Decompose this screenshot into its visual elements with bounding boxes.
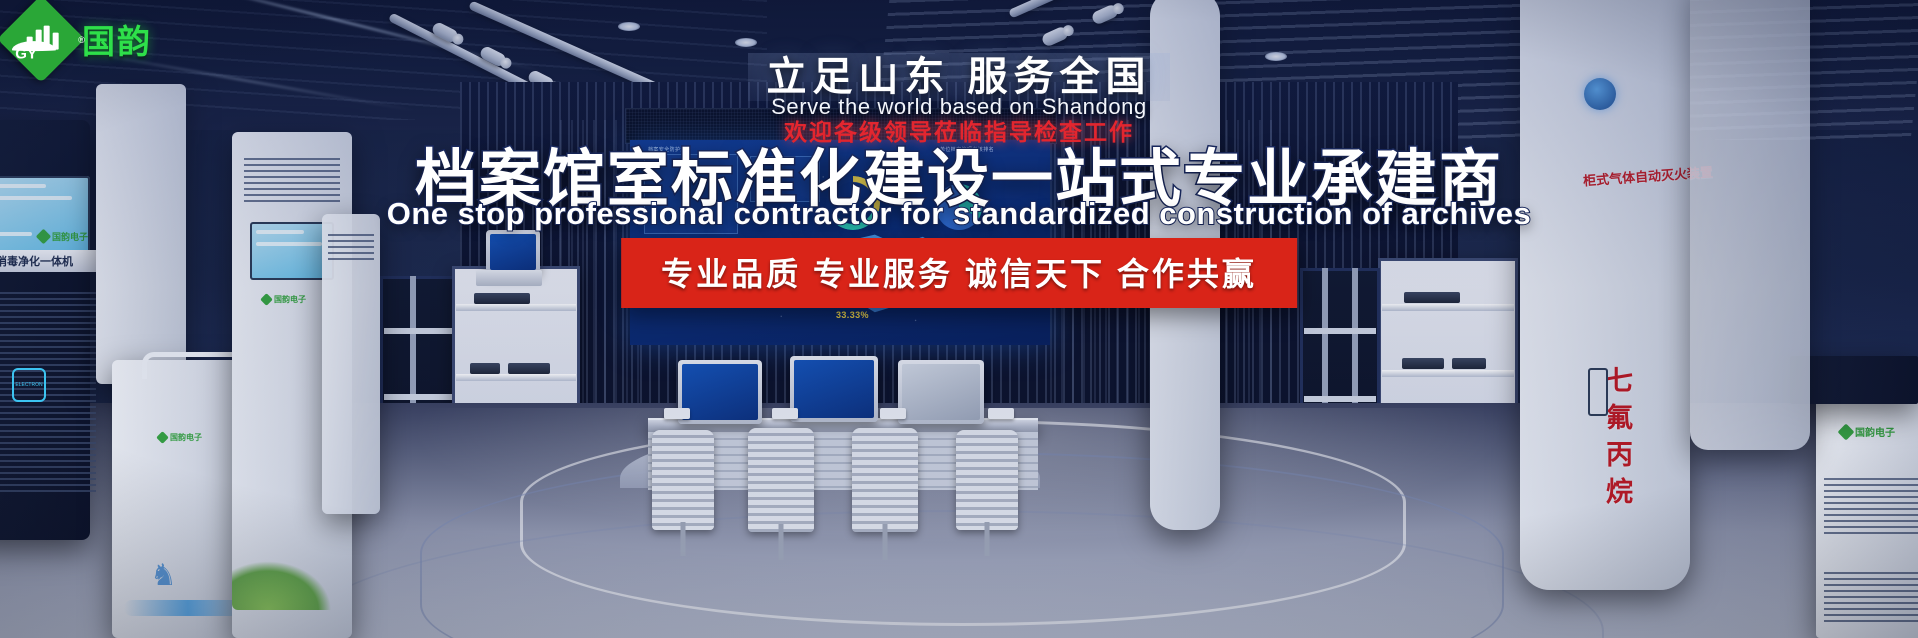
values-red-banner-text: 专业品质 专业服务 诚信天下 合作共赢 — [661, 256, 1257, 292]
hero-banner: 档案安全防护清单 单位档案管理考核排名 33.33% — [0, 0, 1918, 638]
values-red-banner: 专业品质 专业服务 诚信天下 合作共赢 — [621, 238, 1297, 308]
headline-english: One stop professional contractor for sta… — [0, 196, 1918, 232]
overlay-text-layer: GY ® 国韵 立足山东 服务全国 Serve the world based … — [0, 0, 1918, 638]
